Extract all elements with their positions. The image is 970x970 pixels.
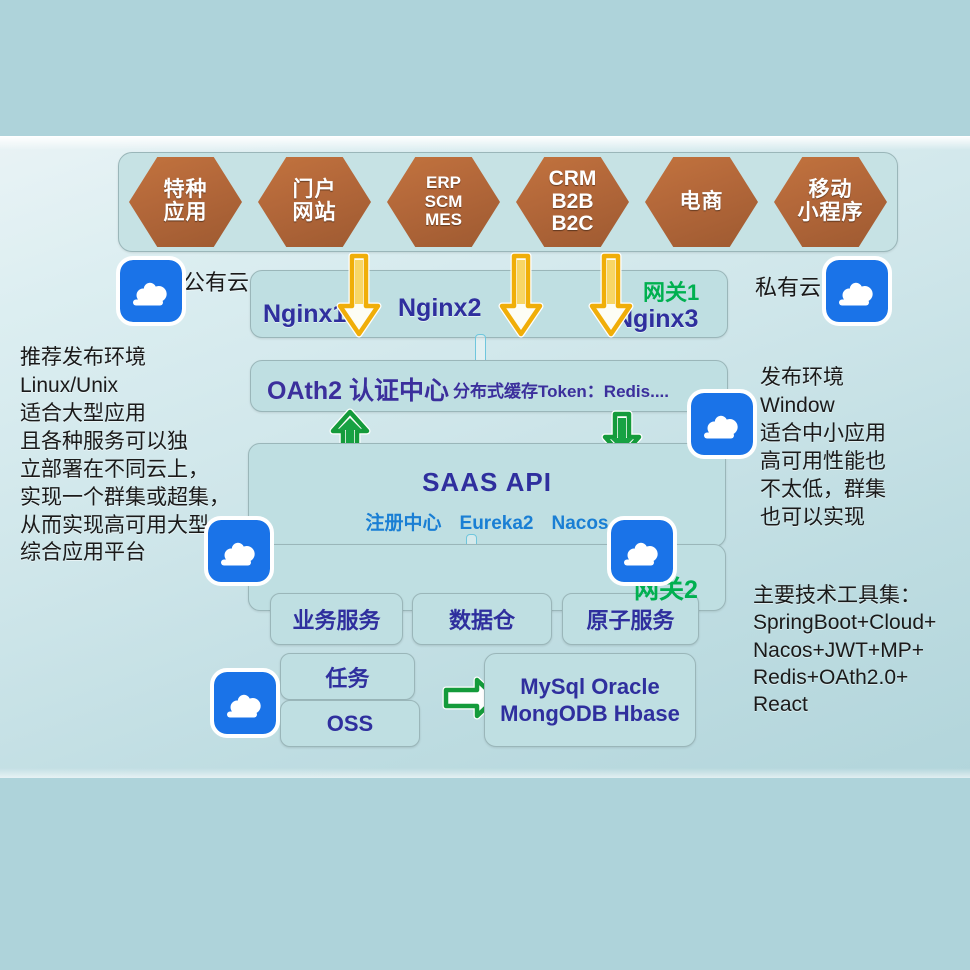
cloud-icon-bottom-left: [214, 672, 276, 734]
left-note-text: 推荐发布环境 Linux/Unix 适合大型应用 且各种服务可以独 立部署在不同…: [20, 344, 235, 567]
app-hexagon-label: 门户网站: [293, 179, 337, 224]
cloud-icon-auth-right: [691, 393, 753, 455]
app-hexagon-line: ERP: [425, 174, 463, 192]
app-hexagon-label: 特种应用: [164, 179, 208, 224]
oauth2-title: OAth2 认证中心: [267, 371, 449, 407]
right-tools-note-text: 主要技术工具集： SpringBoot+Cloud+ Nacos+JWT+MP+…: [753, 582, 968, 718]
app-hexagon-erp-scm-mes[interactable]: ERPSCMMES: [387, 157, 500, 247]
public-cloud-label: 公有云: [183, 265, 249, 297]
right-env-note-text: 发布环境 Window 适合中小应用 高可用性能也 不太低，群集 也可以实现: [760, 364, 960, 532]
oss-box[interactable]: OSS: [280, 700, 420, 747]
cloud-icon-saas-left: [208, 520, 270, 582]
app-hexagon-ecommerce[interactable]: 电商: [645, 157, 758, 247]
diagram-canvas: 特种应用门户网站ERPSCMMESCRMB2BB2C电商移动小程序 公有云 私有…: [0, 0, 970, 970]
app-hexagon-label: CRMB2BB2C: [549, 168, 597, 236]
app-hexagon-line: 电商: [680, 191, 724, 214]
data-warehouse-box[interactable]: 数据仓: [412, 593, 552, 645]
app-hexagon-line: B2C: [549, 213, 597, 236]
app-hexagon-line: 小程序: [798, 202, 864, 225]
app-hexagon-line: SCM: [425, 193, 463, 211]
database-text: MySql Oracle MongODB Hbase: [485, 673, 695, 728]
cloud-icon-gateway2: [611, 520, 673, 582]
app-hexagon-line: 应用: [164, 202, 208, 225]
cloud-icon-public: [120, 260, 182, 322]
registry-nacos: Nacos: [551, 513, 608, 534]
auth-center-container: OAth2 认证中心 分布式缓存Token：Redis....: [250, 360, 728, 412]
nginx2-label: Nginx2: [398, 294, 481, 323]
arrow-down-icon-2: [495, 252, 547, 340]
app-hexagon-crm-b2b-b2c[interactable]: CRMB2BB2C: [516, 157, 629, 247]
app-hexagon-line: B2B: [549, 191, 597, 214]
saas-api-title: SAAS API: [249, 467, 725, 498]
app-hexagon-line: MES: [425, 211, 463, 229]
registry-eureka2: Eureka2: [460, 513, 534, 534]
database-box[interactable]: MySql Oracle MongODB Hbase: [484, 653, 696, 747]
app-hexagon-special-application[interactable]: 特种应用: [129, 157, 242, 247]
cloud-icon-private: [826, 260, 888, 322]
gateway-nginx-container: Nginx1 Nginx2 Nginx3 网关1: [250, 270, 728, 338]
arrow-down-icon-1: [333, 252, 385, 340]
registry-label: 注册中心: [366, 513, 442, 534]
app-hexagon-label: 移动小程序: [798, 179, 864, 224]
distributed-token-cache-label: 分布式缓存Token：Redis....: [453, 377, 669, 402]
private-cloud-label: 私有云: [755, 270, 821, 302]
app-hexagon-portal-website[interactable]: 门户网站: [258, 157, 371, 247]
app-hexagon-line: 特种: [164, 179, 208, 202]
application-hexagon-row: 特种应用门户网站ERPSCMMESCRMB2BB2C电商移动小程序: [119, 153, 897, 251]
app-hexagon-label: 电商: [680, 191, 724, 214]
task-box[interactable]: 任务: [280, 653, 415, 700]
application-layer-container: 特种应用门户网站ERPSCMMESCRMB2BB2C电商移动小程序: [118, 152, 898, 252]
app-hexagon-mobile-miniprogram[interactable]: 移动小程序: [774, 157, 887, 247]
app-hexagon-line: 移动: [798, 179, 864, 202]
app-hexagon-line: 门户: [293, 179, 337, 202]
app-hexagon-line: 网站: [293, 202, 337, 225]
app-hexagon-label: ERPSCMMES: [425, 174, 463, 229]
arrow-down-icon-3: [585, 252, 637, 340]
business-service-box[interactable]: 业务服务: [270, 593, 403, 645]
gateway1-label: 网关1: [643, 275, 699, 307]
app-hexagon-line: CRM: [549, 168, 597, 191]
